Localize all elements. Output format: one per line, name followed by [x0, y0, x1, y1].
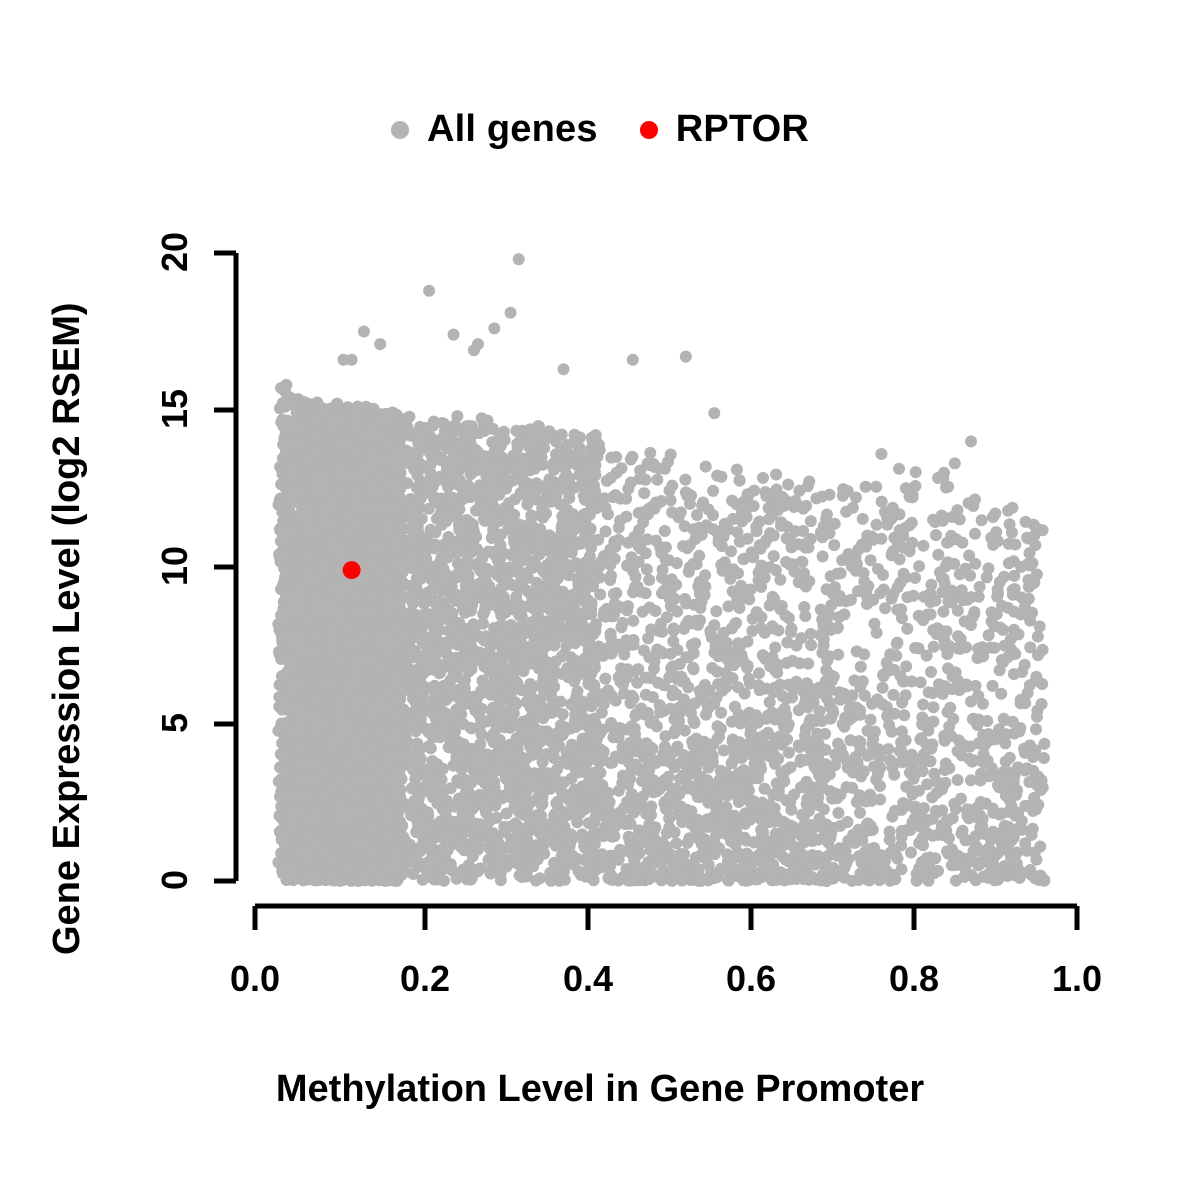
data-point — [992, 584, 1004, 596]
data-point — [774, 574, 786, 586]
data-points-layer — [272, 253, 1050, 887]
data-point — [585, 624, 597, 636]
data-point — [757, 472, 769, 484]
data-point — [700, 461, 712, 473]
data-point — [608, 588, 620, 600]
data-point — [925, 666, 937, 678]
data-point — [1038, 874, 1050, 886]
data-point — [637, 606, 649, 618]
data-point — [860, 481, 872, 493]
data-point — [625, 454, 637, 466]
data-point — [644, 447, 656, 459]
data-point — [901, 623, 913, 635]
data-point — [643, 574, 655, 586]
data-point — [780, 693, 792, 705]
data-point — [768, 550, 780, 562]
data-point — [753, 667, 765, 679]
data-point — [753, 567, 765, 579]
data-point — [731, 464, 743, 476]
data-point — [1027, 823, 1039, 835]
data-point — [858, 765, 870, 777]
data-point — [995, 688, 1007, 700]
data-point — [1006, 527, 1018, 539]
data-point — [805, 515, 817, 527]
data-point — [770, 469, 782, 481]
scatter-plot-figure: All genes RPTOR Gene Expression Level (l… — [0, 0, 1200, 1200]
data-point — [932, 549, 944, 561]
data-point — [983, 562, 995, 574]
data-point — [710, 605, 722, 617]
data-point — [930, 529, 942, 541]
data-point — [659, 525, 671, 537]
data-point — [865, 714, 877, 726]
data-point — [855, 661, 867, 673]
data-point — [893, 463, 905, 475]
data-point — [887, 689, 899, 701]
data-point — [905, 847, 917, 859]
data-point — [962, 594, 974, 606]
data-point — [910, 466, 922, 478]
data-point — [679, 474, 691, 486]
data-point — [976, 514, 988, 526]
data-point — [805, 639, 817, 651]
data-point — [952, 630, 964, 642]
data-point — [1030, 723, 1042, 735]
data-point — [707, 485, 719, 497]
data-point — [858, 648, 870, 660]
data-point — [729, 701, 741, 713]
data-point — [917, 699, 929, 711]
data-point — [1003, 557, 1015, 569]
data-point — [1008, 668, 1020, 680]
data-point — [828, 539, 840, 551]
data-point — [891, 637, 903, 649]
data-point — [877, 682, 889, 694]
data-point — [927, 701, 939, 713]
